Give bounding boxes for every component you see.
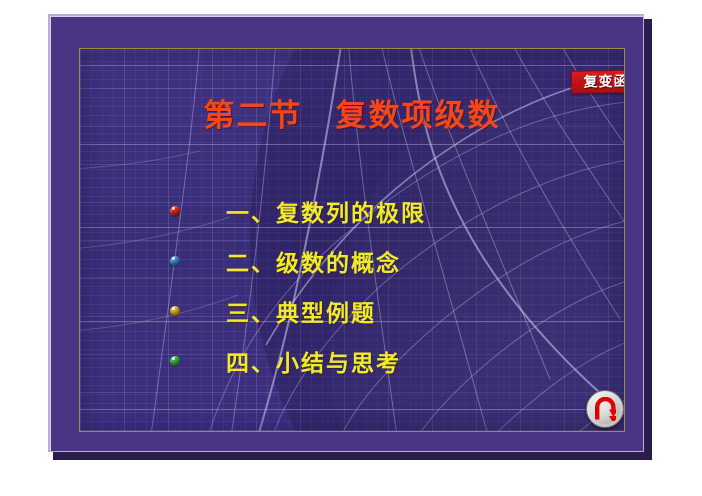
slide-frame-inner: 复变函数 第二节 复数项级数 一、复数列的极限 二、级数的概念 bbox=[55, 21, 639, 447]
u-turn-arrow-icon bbox=[594, 397, 616, 421]
background-rule bbox=[80, 409, 624, 410]
return-button[interactable] bbox=[586, 390, 624, 428]
background-rule bbox=[80, 144, 624, 145]
slide-frame-outer: 复变函数 第二节 复数项级数 一、复数列的极限 二、级数的概念 bbox=[50, 16, 643, 451]
bullet-sphere-orange bbox=[170, 306, 180, 316]
background-rule bbox=[80, 65, 624, 66]
agenda-item-4-label: 四、小结与思考 bbox=[226, 353, 401, 376]
agenda-item-1[interactable]: 一、复数列的极限 bbox=[170, 189, 590, 239]
slide-content-border: 复变函数 第二节 复数项级数 一、复数列的极限 二、级数的概念 bbox=[79, 48, 625, 432]
agenda-list: 一、复数列的极限 二、级数的概念 三、典型例题 四、小结与思考 bbox=[170, 189, 590, 389]
agenda-item-2-label: 二、级数的概念 bbox=[226, 253, 401, 276]
bullet-sphere-green bbox=[170, 356, 180, 366]
agenda-item-4[interactable]: 四、小结与思考 bbox=[170, 339, 590, 389]
agenda-item-3-label: 三、典型例题 bbox=[226, 303, 376, 326]
agenda-item-1-label: 一、复数列的极限 bbox=[226, 203, 426, 226]
agenda-item-2[interactable]: 二、级数的概念 bbox=[170, 239, 590, 289]
bullet-sphere-red bbox=[170, 206, 180, 216]
slide-canvas: 复变函数 第二节 复数项级数 一、复数列的极限 二、级数的概念 bbox=[80, 49, 624, 431]
bullet-sphere-blue bbox=[170, 256, 180, 266]
course-banner: 复变函数 bbox=[571, 69, 624, 94]
course-banner-label: 复变函数 bbox=[583, 74, 624, 89]
agenda-item-3[interactable]: 三、典型例题 bbox=[170, 289, 590, 339]
slide-title: 第二节 复数项级数 bbox=[80, 99, 624, 133]
presentation-slide: 复变函数 第二节 复数项级数 一、复数列的极限 二、级数的概念 bbox=[48, 14, 652, 460]
